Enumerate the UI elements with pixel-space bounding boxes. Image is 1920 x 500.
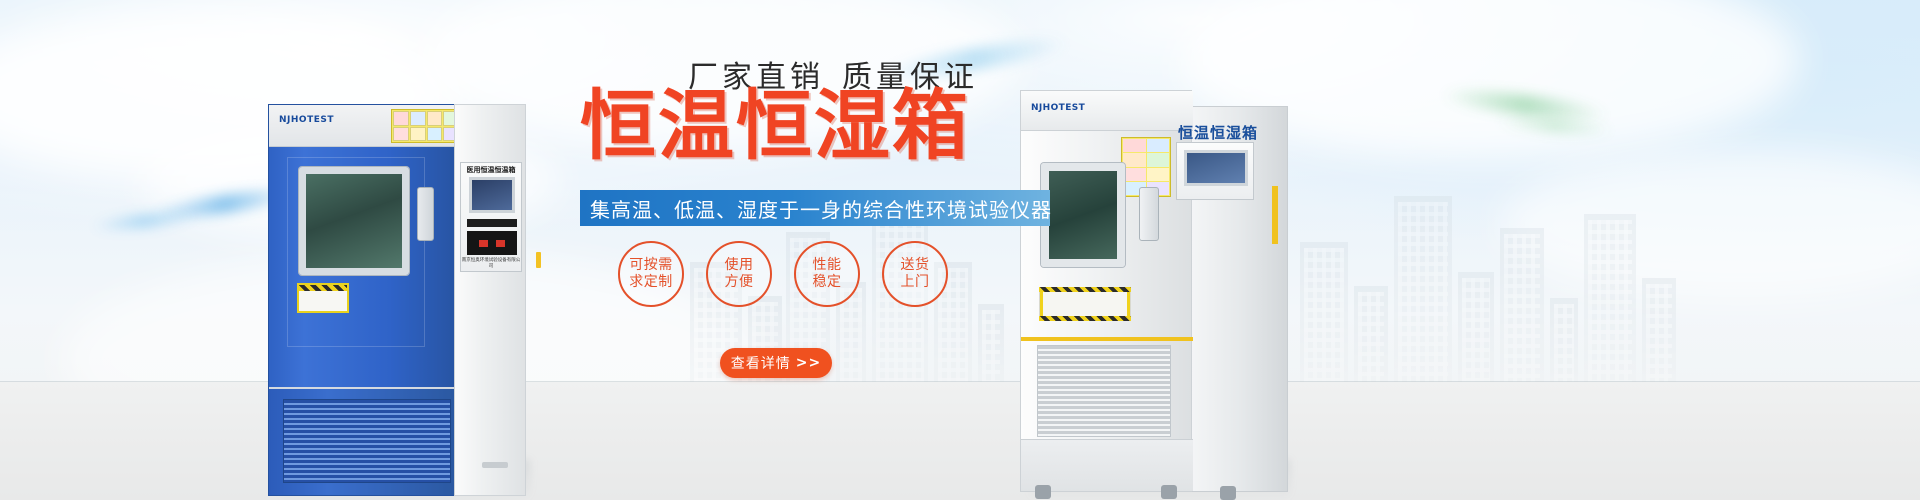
view-details-button[interactable]: 查看详情 >>	[720, 348, 832, 378]
badge-line-1: 使用	[725, 257, 754, 275]
chevron-right-icon: >>	[796, 355, 821, 371]
caster-wheel	[1220, 486, 1236, 500]
chamber-door-handle	[1139, 187, 1159, 241]
feature-badge-row: 可按需 求定制 使用 方便 性能 稳定 送货 上门	[618, 232, 1038, 316]
badge-line-1: 可按需	[629, 257, 673, 275]
subtitle-bar: 集高温、低温、湿度于一身的综合性环境试验仪器	[580, 190, 1050, 226]
chamber-warning-sticker	[297, 283, 349, 313]
cabinet-drawer-handle	[482, 462, 508, 468]
chamber-base-unit	[269, 387, 465, 495]
product-image-left-chamber: NJHOTEST 医用恒温恒温箱 南京恒奥环境试验设备有限公司	[268, 104, 526, 496]
chamber-vent-grille	[283, 399, 451, 483]
page-title: 恒温恒湿箱	[580, 88, 970, 164]
promo-banner: NJHOTEST 医用恒温恒温箱 南京恒奥环境试验设备有限公司	[0, 0, 1920, 500]
chamber-viewing-window	[299, 167, 409, 275]
control-panel-title: 医用恒温恒温箱	[461, 165, 521, 175]
banner-copy-block: 厂家直销质量保证 恒温恒湿箱 集高温、低温、湿度于一身的综合性环境试验仪器 可按…	[560, 0, 1080, 500]
chamber-control-panel: 医用恒温恒温箱 南京恒奥环境试验设备有限公司	[460, 162, 522, 272]
badge-line-1: 送货	[901, 257, 930, 275]
subtitle-text: 集高温、低温、湿度于一身的综合性环境试验仪器	[580, 194, 1052, 223]
badge-line-2: 上门	[901, 274, 930, 292]
product-name-decal: 恒温恒湿箱	[1178, 122, 1258, 143]
chamber-body: NJHOTEST	[268, 104, 464, 496]
badge-line-1: 性能	[813, 257, 842, 275]
control-panel-strip	[467, 219, 517, 227]
brand-logo: NJHOTEST	[279, 115, 334, 125]
feature-badge-customizable[interactable]: 可按需 求定制	[618, 241, 684, 307]
yellow-indicator-strip	[1272, 186, 1278, 244]
caster-wheel	[1161, 485, 1177, 499]
chamber-top-panel: NJHOTEST	[269, 105, 465, 147]
badge-line-2: 稳定	[813, 274, 842, 292]
control-panel-screen	[469, 177, 515, 213]
chamber-door-handle	[417, 187, 434, 241]
yellow-indicator-strip	[536, 252, 541, 268]
feature-badge-easy-to-use[interactable]: 使用 方便	[706, 241, 772, 307]
feature-badge-stable-performance[interactable]: 性能 稳定	[794, 241, 860, 307]
control-panel-footer-text: 南京恒奥环境试验设备有限公司	[461, 257, 521, 269]
control-panel-screen	[1184, 150, 1248, 186]
feature-badge-home-delivery[interactable]: 送货 上门	[882, 241, 948, 307]
badge-line-2: 求定制	[629, 274, 673, 292]
chamber-control-panel	[1176, 142, 1254, 200]
cta-label: 查看详情	[731, 353, 791, 373]
control-panel-buttons	[467, 231, 517, 255]
badge-line-2: 方便	[725, 274, 754, 292]
warning-label-grid	[391, 109, 461, 143]
